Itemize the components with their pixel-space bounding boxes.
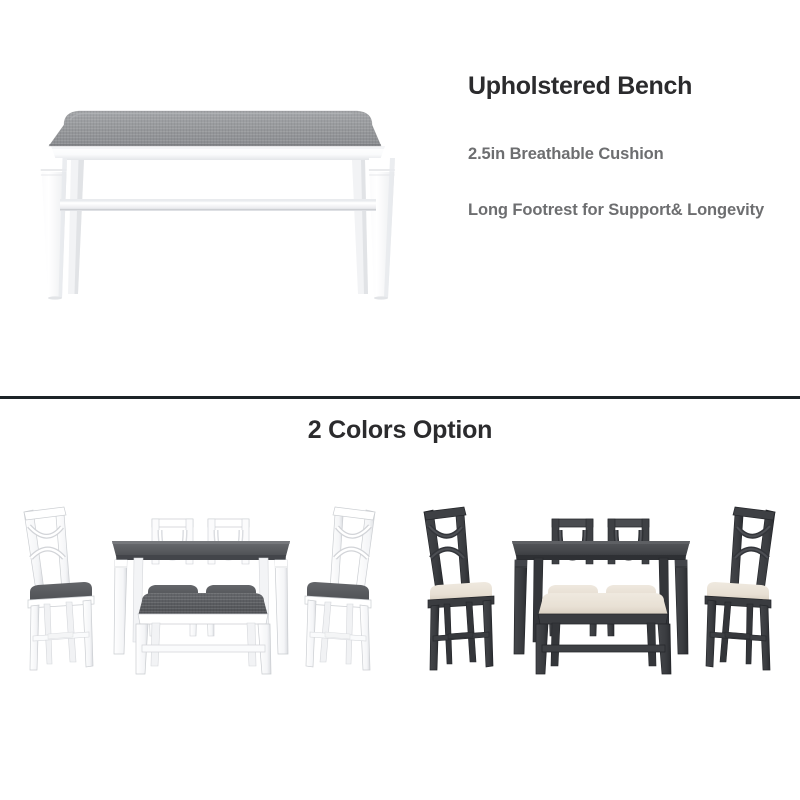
feature-cushion: 2.5in Breathable Cushion: [468, 143, 788, 167]
bench-footrest-stretcher: [60, 199, 376, 211]
top-section: Upholstered Bench 2.5in Breathable Cushi…: [0, 0, 800, 398]
bottom-section: 2 Colors Option: [0, 399, 800, 800]
bench-cushion: [49, 111, 381, 146]
product-infographic: Upholstered Bench 2.5in Breathable Cushi…: [0, 0, 800, 800]
white-bench: [136, 593, 271, 674]
upholstered-bench-image: [18, 98, 418, 308]
dark-side-chair-right: [705, 507, 775, 670]
dining-set-dark-gray[interactable]: [400, 494, 800, 709]
product-copy-block: Upholstered Bench 2.5in Breathable Cushi…: [468, 72, 788, 223]
white-side-chair-right: [305, 507, 375, 670]
white-dining-set-illustration: [0, 494, 400, 709]
bench-leg-right-rear: [352, 160, 368, 294]
colors-section-title: 2 Colors Option: [0, 416, 800, 445]
dark-bench: [536, 593, 671, 674]
dining-set-white[interactable]: [0, 494, 400, 709]
page-title: Upholstered Bench: [468, 72, 788, 101]
color-options-row: [0, 494, 800, 709]
dark-side-chair-left: [424, 507, 494, 670]
bench-leg-right: [369, 158, 395, 300]
feature-footrest: Long Footrest for Support& Longevity: [468, 199, 788, 223]
dark-gray-dining-set-illustration: [400, 494, 800, 709]
bench-illustration: [18, 98, 418, 308]
bench-apron: [51, 146, 385, 160]
bench-leg-left: [41, 158, 67, 300]
white-side-chair-left: [24, 507, 94, 670]
bench-leg-left-rear: [68, 160, 84, 294]
